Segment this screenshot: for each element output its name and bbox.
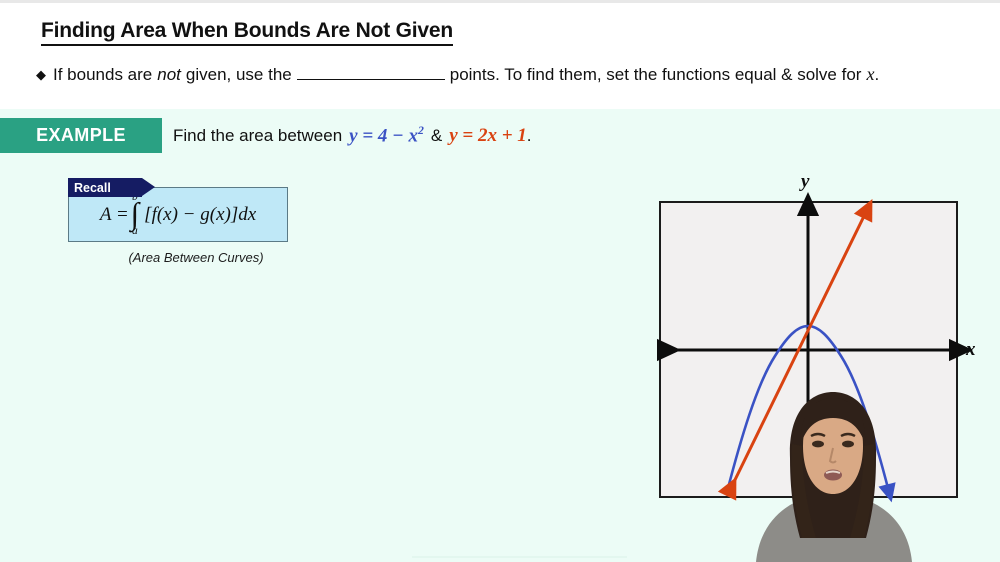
top-divider (0, 0, 1000, 3)
example-suffix: . (527, 126, 532, 146)
diamond-bullet-icon: ◆ (36, 67, 46, 83)
integral-lower-limit: a (132, 226, 138, 238)
x-axis-label: x (966, 339, 976, 361)
example-prompt-prefix: Find the area between (173, 126, 342, 146)
bullet-text-part-1: If bounds are (53, 65, 152, 85)
presenter-eye-right (842, 441, 854, 448)
bullet-row: ◆ If bounds are not given, use the point… (36, 64, 879, 85)
bullet-period: . (874, 65, 879, 85)
bullet-text-part-2: given, use the (186, 65, 292, 85)
header-background (0, 0, 1000, 109)
bullet-variable-x: x (866, 64, 874, 85)
example-banner-label: EXAMPLE (36, 125, 126, 146)
presenter-figure (744, 388, 922, 562)
bottom-hairline (412, 556, 627, 558)
recall-tab-label: Recall (74, 181, 111, 195)
equation-blue-exponent: 2 (418, 124, 424, 137)
recall-caption: (Area Between Curves) (86, 250, 306, 265)
example-banner: EXAMPLE (0, 118, 162, 153)
formula-rhs: [f(x) − g(x)]dx (144, 204, 256, 226)
example-prompt: Find the area between y = 4 − x2 & y = 2… (173, 124, 532, 147)
example-conjunction: & (431, 126, 442, 146)
equation-blue-body: y = 4 − x (349, 125, 418, 146)
integral-icon: ∫ (131, 203, 140, 225)
fill-in-blank[interactable] (297, 66, 445, 80)
presenter-video-overlay (744, 388, 922, 562)
y-axis-label: y (801, 171, 809, 193)
bullet-text-part-3: points. To find them, set the functions … (450, 65, 862, 85)
recall-tab-arrow-icon (142, 178, 155, 196)
page-title: Finding Area When Bounds Are Not Given (41, 20, 453, 46)
formula-lhs: A = (100, 204, 129, 226)
bullet-emphasis-not: not (157, 65, 181, 85)
integral-symbol-group: b ∫ a (131, 192, 140, 237)
slide-root: Finding Area When Bounds Are Not Given ◆… (0, 0, 1000, 562)
equation-blue: y = 4 − x2 (349, 124, 424, 147)
recall-tab: Recall (68, 178, 142, 197)
presenter-eye-left (812, 441, 824, 448)
equation-orange: y = 2x + 1 (449, 125, 527, 147)
